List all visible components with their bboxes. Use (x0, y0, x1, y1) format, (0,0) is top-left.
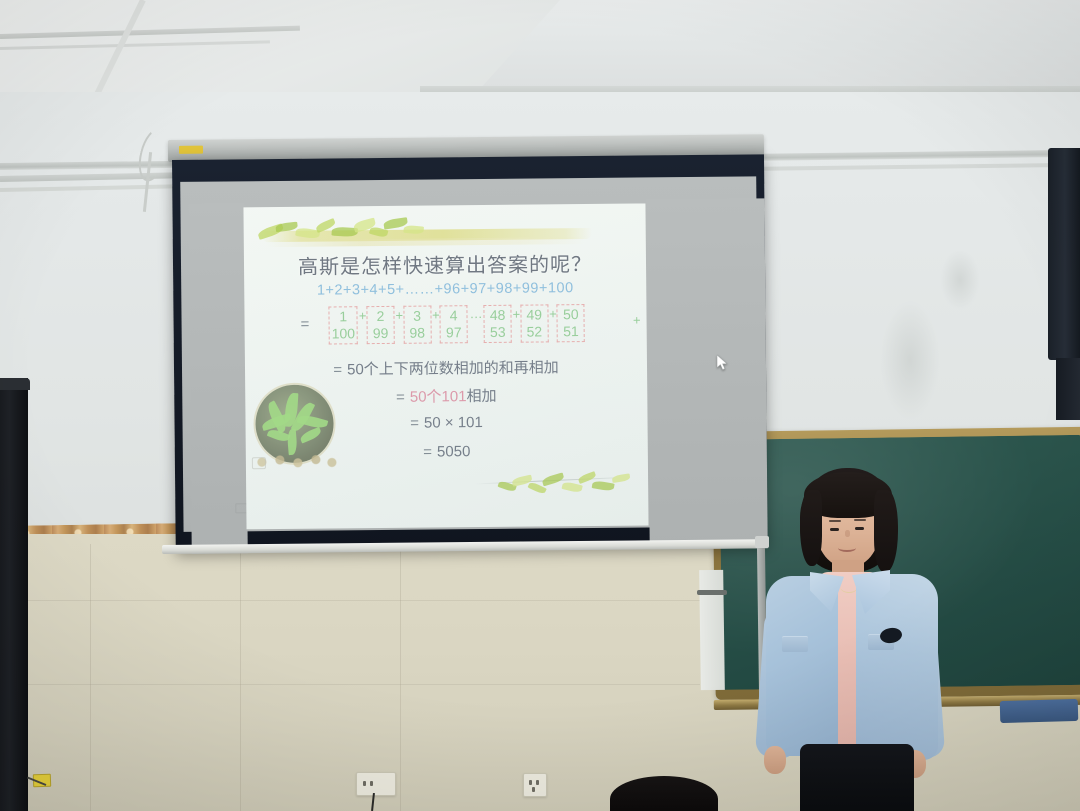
pair-plus: + (432, 305, 440, 324)
whiteboard-strip (699, 570, 725, 690)
tile-grout-line (400, 544, 401, 811)
number-pair-box: 50 51 (557, 304, 585, 342)
projector-screen-surface[interactable]: 高斯是怎样快速算出答案的呢？ 1+2+3+4+5+……+96+97+98+99+… (180, 176, 759, 532)
hair-side-right (874, 490, 898, 572)
wall-smudge (880, 300, 940, 420)
pair-bottom-number: 52 (523, 323, 545, 340)
slide-small-icon (252, 457, 266, 469)
projection-letterbox-right (646, 198, 767, 549)
projection-letterbox-left (188, 203, 247, 554)
pair-bottom-number: 97 (443, 324, 465, 341)
whiteboard-bar (697, 590, 727, 595)
pair-top-number: 48 (487, 307, 509, 324)
pair-grid: 1 100 + 2 99 + 3 98 + (328, 304, 628, 345)
pair-top-number: 4 (443, 307, 465, 324)
tile-grout-line (0, 684, 700, 685)
projector-screen-label (179, 146, 203, 154)
black-pants (800, 744, 914, 811)
pair-top-number: 3 (406, 308, 428, 325)
pair-top-number: 49 (523, 306, 545, 323)
equals-sign: = (396, 389, 405, 406)
wall-socket[interactable] (523, 773, 547, 797)
pair-trailing-plus: + (633, 313, 641, 328)
wall-smudge (940, 250, 980, 310)
pair-bottom-number: 98 (406, 325, 428, 342)
slide-title: 高斯是怎样快速算出答案的呢？ (244, 247, 646, 280)
number-pair-box: 3 98 (403, 306, 431, 344)
ceiling-soffit (0, 0, 560, 100)
dark-cabinet-top (0, 378, 30, 390)
projector-screen-frame: 高斯是怎样快速算出答案的呢？ 1+2+3+4+5+……+96+97+98+99+… (172, 154, 768, 552)
pair-bottom-number: 100 (332, 325, 356, 342)
jacket-pocket-left (782, 636, 808, 652)
left-hand (764, 746, 786, 774)
wall-mounted-dark-unit[interactable] (1048, 148, 1080, 360)
teacher (752, 468, 948, 811)
nose (845, 530, 850, 537)
mouth (838, 544, 856, 552)
plant-photo-icon (255, 384, 334, 463)
pair-ellipsis: … (469, 305, 484, 322)
dark-cabinet[interactable] (0, 378, 28, 811)
tile-grout-line (90, 544, 91, 811)
pair-bottom-number: 99 (370, 325, 392, 342)
result-text: 相加 (466, 388, 496, 405)
number-pair-box: 48 53 (484, 305, 512, 343)
wall-mounted-unit-bracket (1056, 358, 1080, 420)
number-pair-box: 4 97 (440, 305, 468, 343)
pair-plus: + (549, 304, 557, 323)
pair-top-number: 2 (369, 308, 391, 325)
slide-leaf-decoration-top (244, 213, 496, 249)
slide-sum-expression: 1+2+3+4+5+……+96+97+98+99+100 (244, 279, 646, 299)
slide-pair-grouping: = 1 100 + 2 99 + 3 (328, 304, 628, 345)
presentation-slide[interactable]: 高斯是怎样快速算出答案的呢？ 1+2+3+4+5+……+96+97+98+99+… (243, 203, 648, 529)
slide-leaf-decoration-bottom (484, 465, 648, 511)
hair-side-left (800, 490, 822, 566)
result-text: 50个上下两位数相加的和再相加 (347, 359, 559, 378)
number-pair-box: 1 100 (328, 306, 358, 344)
blue-object-on-ledge (1000, 699, 1079, 723)
classroom-photo: 高斯是怎样快速算出答案的呢？ 1+2+3+4+5+……+96+97+98+99+… (0, 0, 1080, 811)
slide-result-line-1: =50个上下两位数相加的和再相加 (245, 355, 647, 380)
pair-plus: + (395, 306, 403, 325)
tile-grout-line (0, 600, 700, 601)
result-text: 5050 (437, 443, 471, 460)
equals-sign: = (333, 361, 342, 378)
tile-grout-line (240, 544, 241, 811)
equals-sign: = (410, 415, 419, 432)
equals-sign: = (423, 444, 432, 461)
pair-plus: + (513, 305, 521, 324)
pair-bottom-number: 53 (487, 324, 509, 341)
result-text: 50 × 101 (424, 414, 483, 432)
number-pair-box: 49 52 (520, 304, 548, 342)
pair-top-number: 50 (560, 306, 582, 323)
pair-bottom-number: 51 (560, 323, 582, 340)
pair-plus: + (359, 306, 367, 325)
pair-top-number: 1 (331, 308, 355, 325)
number-pair-box: 2 99 (366, 306, 394, 344)
pair-equals-sign: = (301, 316, 310, 333)
wall-socket[interactable] (356, 772, 396, 796)
result-highlight: 50个101 (410, 388, 467, 406)
